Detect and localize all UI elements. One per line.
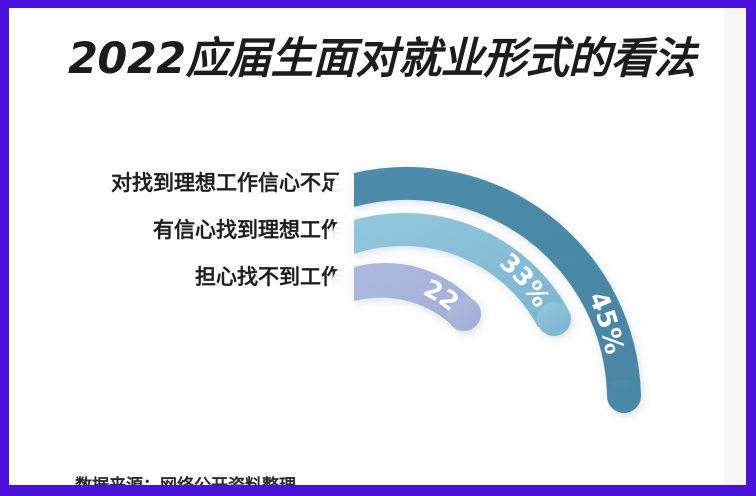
- poster-frame: 2022应届生面对就业形式的看法 对找到理想工作信心不足 有信心找到理想工作 担…: [0, 0, 756, 496]
- arc-chart: 22% 33% 45%: [9, 8, 746, 485]
- footer-caption: 数据来源：网络公开资料整理: [75, 476, 296, 485]
- poster-canvas: 2022应届生面对就业形式的看法 对找到理想工作信心不足 有信心找到理想工作 担…: [9, 8, 746, 485]
